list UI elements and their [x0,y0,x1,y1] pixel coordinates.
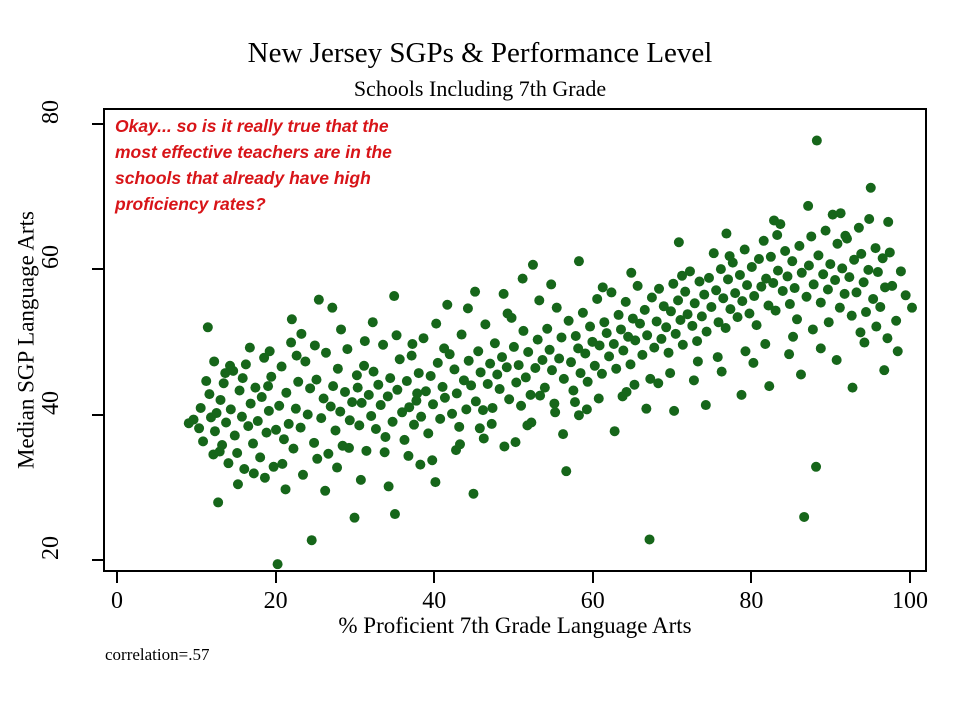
scatter-point [723,274,733,284]
scatter-point [642,330,652,340]
scatter-point [495,384,505,394]
scatter-point [816,343,826,353]
scatter-point [480,319,490,329]
scatter-point [692,336,702,346]
scatter-point [788,332,798,342]
scatter-point [238,373,248,383]
scatter-point [464,356,474,366]
scatter-point [597,369,607,379]
scatter-point [721,323,731,333]
scatter-point [570,397,580,407]
scatter-point [875,302,885,312]
scatter-point [360,336,370,346]
scatter-point [312,454,322,464]
scatter-point [516,401,526,411]
scatter-point [439,343,449,353]
scatter-point [699,290,709,300]
scatter-point [203,322,213,332]
scatter-point [335,407,345,417]
scatter-point [380,447,390,457]
scatter-point [760,339,770,349]
scatter-point [416,412,426,422]
scatter-point [461,404,471,414]
scatter-point [778,286,788,296]
y-axis-label: Median SGP Language Arts [13,211,40,469]
scatter-point [248,439,258,449]
scatter-point [832,355,842,365]
scatter-point [476,367,486,377]
scatter-point [344,443,354,453]
scatter-point [466,380,476,390]
scatter-point [813,250,823,260]
scatter-point [879,365,889,375]
scatter-point [796,370,806,380]
scatter-point [780,246,790,256]
scatter-point [376,400,386,410]
scatter-point [864,214,874,224]
scatter-point [235,386,245,396]
scatter-point [332,463,342,473]
scatter-point [735,270,745,280]
scatter-point [249,468,259,478]
scatter-point [664,348,674,358]
scatter-point [435,414,445,424]
scatter-point [799,512,809,522]
scatter-point [610,426,620,436]
scatter-point [645,374,655,384]
scatter-point [449,364,459,374]
scatter-point [368,317,378,327]
scatter-point [340,387,350,397]
scatter-point [455,439,465,449]
scatter-point [534,295,544,305]
scatter-point [851,287,861,297]
scatter-point [364,390,374,400]
scatter-point [716,264,726,274]
scatter-point [725,251,735,261]
scatter-point [292,351,302,361]
scatter-point [740,346,750,356]
scatter-point [752,320,762,330]
scatter-point [545,345,555,355]
scatter-point [392,385,402,395]
scatter-point [419,333,429,343]
scatter-point [518,274,528,284]
scatter-point [281,484,291,494]
scatter-point [526,390,536,400]
chart-title: New Jersey SGPs & Performance Level [0,36,960,70]
scatter-point [571,331,581,341]
scatter-point [718,293,728,303]
scatter-point [747,262,757,272]
scatter-point [804,261,814,271]
scatter-point [665,368,675,378]
scatter-point [690,298,700,308]
scatter-point [328,381,338,391]
scatter-point [504,394,514,404]
scatter-point [704,273,714,283]
scatter-point [383,391,393,401]
scatter-point [887,281,897,291]
scatter-point [552,303,562,313]
scatter-point [423,428,433,438]
scatter-point [574,256,584,266]
y-axis-tick [92,414,103,416]
scatter-point [564,316,574,326]
scatter-point [797,268,807,278]
scatter-point [284,419,294,429]
scatter-point [384,481,394,491]
scatter-point [239,464,249,474]
scatter-point [347,397,357,407]
scatter-point [635,319,645,329]
x-axis-tick-label: 0 [111,589,123,613]
scatter-point [403,451,413,461]
scatter-point [412,388,422,398]
scatter-point [599,317,609,327]
scatter-point [232,448,242,458]
scatter-point [818,269,828,279]
scatter-point [836,208,846,218]
scatter-point [537,355,547,365]
scatter-point [706,302,716,312]
scatter-point [281,388,291,398]
scatter-point [625,359,635,369]
scatter-point [769,215,779,225]
scatter-point [269,462,279,472]
scatter-point [345,415,355,425]
scatter-point [352,370,362,380]
scatter-point [582,404,592,414]
scatter-point [330,425,340,435]
scatter-point [873,267,883,277]
scatter-point [250,383,260,393]
scatter-point [402,376,412,386]
scatter-point [266,372,276,382]
scatter-point [499,289,509,299]
scatter-point [744,308,754,318]
scatter-point [380,432,390,442]
correlation-footnote: correlation=.57 [105,645,209,665]
scatter-point [503,308,513,318]
scatter-point [784,349,794,359]
x-axis-tick [909,572,911,583]
scatter-point [540,383,550,393]
scatter-point [871,243,881,253]
scatter-point [342,344,352,354]
scatter-point [356,475,366,485]
scatter-point [811,462,821,472]
x-axis-tick-label: 80 [739,589,763,613]
scatter-point [407,339,417,349]
scatter-point [816,298,826,308]
scatter-point [307,535,317,545]
scatter-point [492,370,502,380]
scatter-point [566,357,576,367]
scatter-point [840,231,850,241]
scatter-point [785,299,795,309]
scatter-point [277,459,287,469]
scatter-point [669,406,679,416]
scatter-point [310,340,320,350]
scatter-point [264,406,274,416]
scatter-point [323,449,333,459]
scatter-point [866,183,876,193]
scatter-point [709,248,719,258]
scatter-point [637,350,647,360]
scatter-point [213,497,223,507]
scatter-point [595,340,605,350]
scatter-point [357,398,367,408]
scatter-point [832,239,842,249]
chart-subtitle: Schools Including 7th Grade [0,76,960,102]
scatter-point [296,329,306,339]
x-axis-tick [750,572,752,583]
scatter-point [483,379,493,389]
scatter-point [668,279,678,289]
scatter-point [415,460,425,470]
scatter-point [677,271,687,281]
scatter-point [656,334,666,344]
scatter-point [463,303,473,313]
scatter-point [440,393,450,403]
scatter-point [859,338,869,348]
scatter-point [790,283,800,293]
scatter-point [802,292,812,302]
scatter-point [830,275,840,285]
scatter-point [547,365,557,375]
scatter-point [475,423,485,433]
scatter-point [863,265,873,275]
scatter-point [428,399,438,409]
scatter-point [748,358,758,368]
scatter-point [806,231,816,241]
scatter-point [223,458,233,468]
scatter-point [652,316,662,326]
scatter-point [809,279,819,289]
scatter-point [891,316,901,326]
scatter-point [209,356,219,366]
x-axis-label: % Proficient 7th Grade Language Arts [103,612,927,639]
scatter-point [730,288,740,298]
scatter-point [654,284,664,294]
scatter-point [470,287,480,297]
scatter-point [468,489,478,499]
scatter-point [697,311,707,321]
scatter-point [533,335,543,345]
scatter-point [371,424,381,434]
scatter-point [606,287,616,297]
scatter-point [522,420,532,430]
scatter-point [263,381,273,391]
scatter-point [678,340,688,350]
scatter-point [245,343,255,353]
scatter-point [298,470,308,480]
scatter-point [521,372,531,382]
scatter-point [333,364,343,374]
scatter-point [585,322,595,332]
scatter-point [640,305,650,315]
scatter-point [609,339,619,349]
scatter-point [490,338,500,348]
scatter-point [189,415,199,425]
scatter-point [766,252,776,262]
scatter-point [792,314,802,324]
scatter-point [568,386,578,396]
scatter-point [840,289,850,299]
scatter-point [754,254,764,264]
scatter-point [454,422,464,432]
scatter-point [194,423,204,433]
scatter-point [855,327,865,337]
scatter-point [260,473,270,483]
scatter-point [277,362,287,372]
scatter-point [314,295,324,305]
scatter-point [768,278,778,288]
scatter-point [255,452,265,462]
scatter-point [296,423,306,433]
scatter-point [882,333,892,343]
scatter-point [319,394,329,404]
scatter-point [901,290,911,300]
scatter-point [226,404,236,414]
scatter-point [392,330,402,340]
scatter-point [885,247,895,257]
scatter-point [421,386,431,396]
scatter-point [262,428,272,438]
scatter-point [241,359,251,369]
x-axis-tick-label: 100 [892,589,928,613]
scatter-point [803,201,813,211]
scatter-point [868,294,878,304]
scatter-point [316,413,326,423]
scatter-point [219,378,229,388]
y-axis-tick [92,559,103,561]
scatter-point [279,434,289,444]
scatter-point [488,403,498,413]
scatter-point [336,324,346,334]
scatter-point [273,559,283,569]
scatter-point [287,314,297,324]
scatter-point [414,368,424,378]
scatter-point [514,360,524,370]
scatter-point [271,425,281,435]
scatter-point [733,312,743,322]
scatter-point [395,354,405,364]
scatter-point [473,346,483,356]
scatter-point [479,433,489,443]
x-axis-tick-label: 40 [422,589,446,613]
scatter-point [618,391,628,401]
scatter-point [558,429,568,439]
scatter-point [542,324,552,334]
scatter-point [210,426,220,436]
y-axis-tick [92,123,103,125]
scatter-point [583,377,593,387]
scatter-point [274,401,284,411]
scatter-point [783,271,793,281]
scatter-point [844,272,854,282]
scatter-point [246,399,256,409]
scatter-point [430,477,440,487]
scatter-point [523,347,533,357]
scatter-point [433,358,443,368]
scatter-point [594,394,604,404]
scatter-point [288,444,298,454]
scatter-point [701,400,711,410]
scatter-point [737,296,747,306]
scatter-point [385,373,395,383]
scatter-point [389,291,399,301]
scatter-point [896,266,906,276]
scatter-point [713,352,723,362]
scatter-point [861,307,871,317]
scatter-point [198,436,208,446]
scatter-point [578,308,588,318]
scatter-point [447,409,457,419]
scatter-point [303,409,313,419]
scatter-point [824,317,834,327]
scatter-point [216,395,226,405]
scatter-point [237,412,247,422]
scatter-point [633,281,643,291]
scatter-point [221,417,231,427]
scatter-point [645,534,655,544]
scatter-point [549,399,559,409]
scatter-point [821,226,831,236]
scatter-point [321,348,331,358]
scatter-point [452,388,462,398]
scatter-point [598,282,608,292]
scatter-point [721,229,731,239]
scatter-point [201,376,211,386]
scatter-point [509,342,519,352]
x-axis-tick-label: 20 [264,589,288,613]
scatter-point [711,285,721,295]
scatter-point [253,416,263,426]
scatter-point [326,401,336,411]
scatter-point [666,306,676,316]
scatter-point [871,322,881,332]
scatter-point [353,383,363,393]
scatter-point [759,236,769,246]
scatter-point [794,241,804,251]
scatter-point [614,310,624,320]
scatter-point [471,396,481,406]
scatter-point [291,404,301,414]
x-axis-tick [116,572,118,583]
scatter-point [409,420,419,430]
scatter-point [764,381,774,391]
scatter-point [220,368,230,378]
scatter-point [293,377,303,387]
scatter-point [487,419,497,429]
scatter-point [717,367,727,377]
scatter-point [680,287,690,297]
scatter-point [390,509,400,519]
scatter-point [630,335,640,345]
scatter-point [369,367,379,377]
scatter-point [215,447,225,457]
annotation-callout: Okay... so is it really true that the mo… [115,113,475,217]
scatter-point [265,346,275,356]
scatter-point [847,311,857,321]
scatter-point [883,217,893,227]
scatter-point [550,407,560,417]
scatter-point [546,279,556,289]
scatter-point [616,324,626,334]
scatter-point [825,259,835,269]
